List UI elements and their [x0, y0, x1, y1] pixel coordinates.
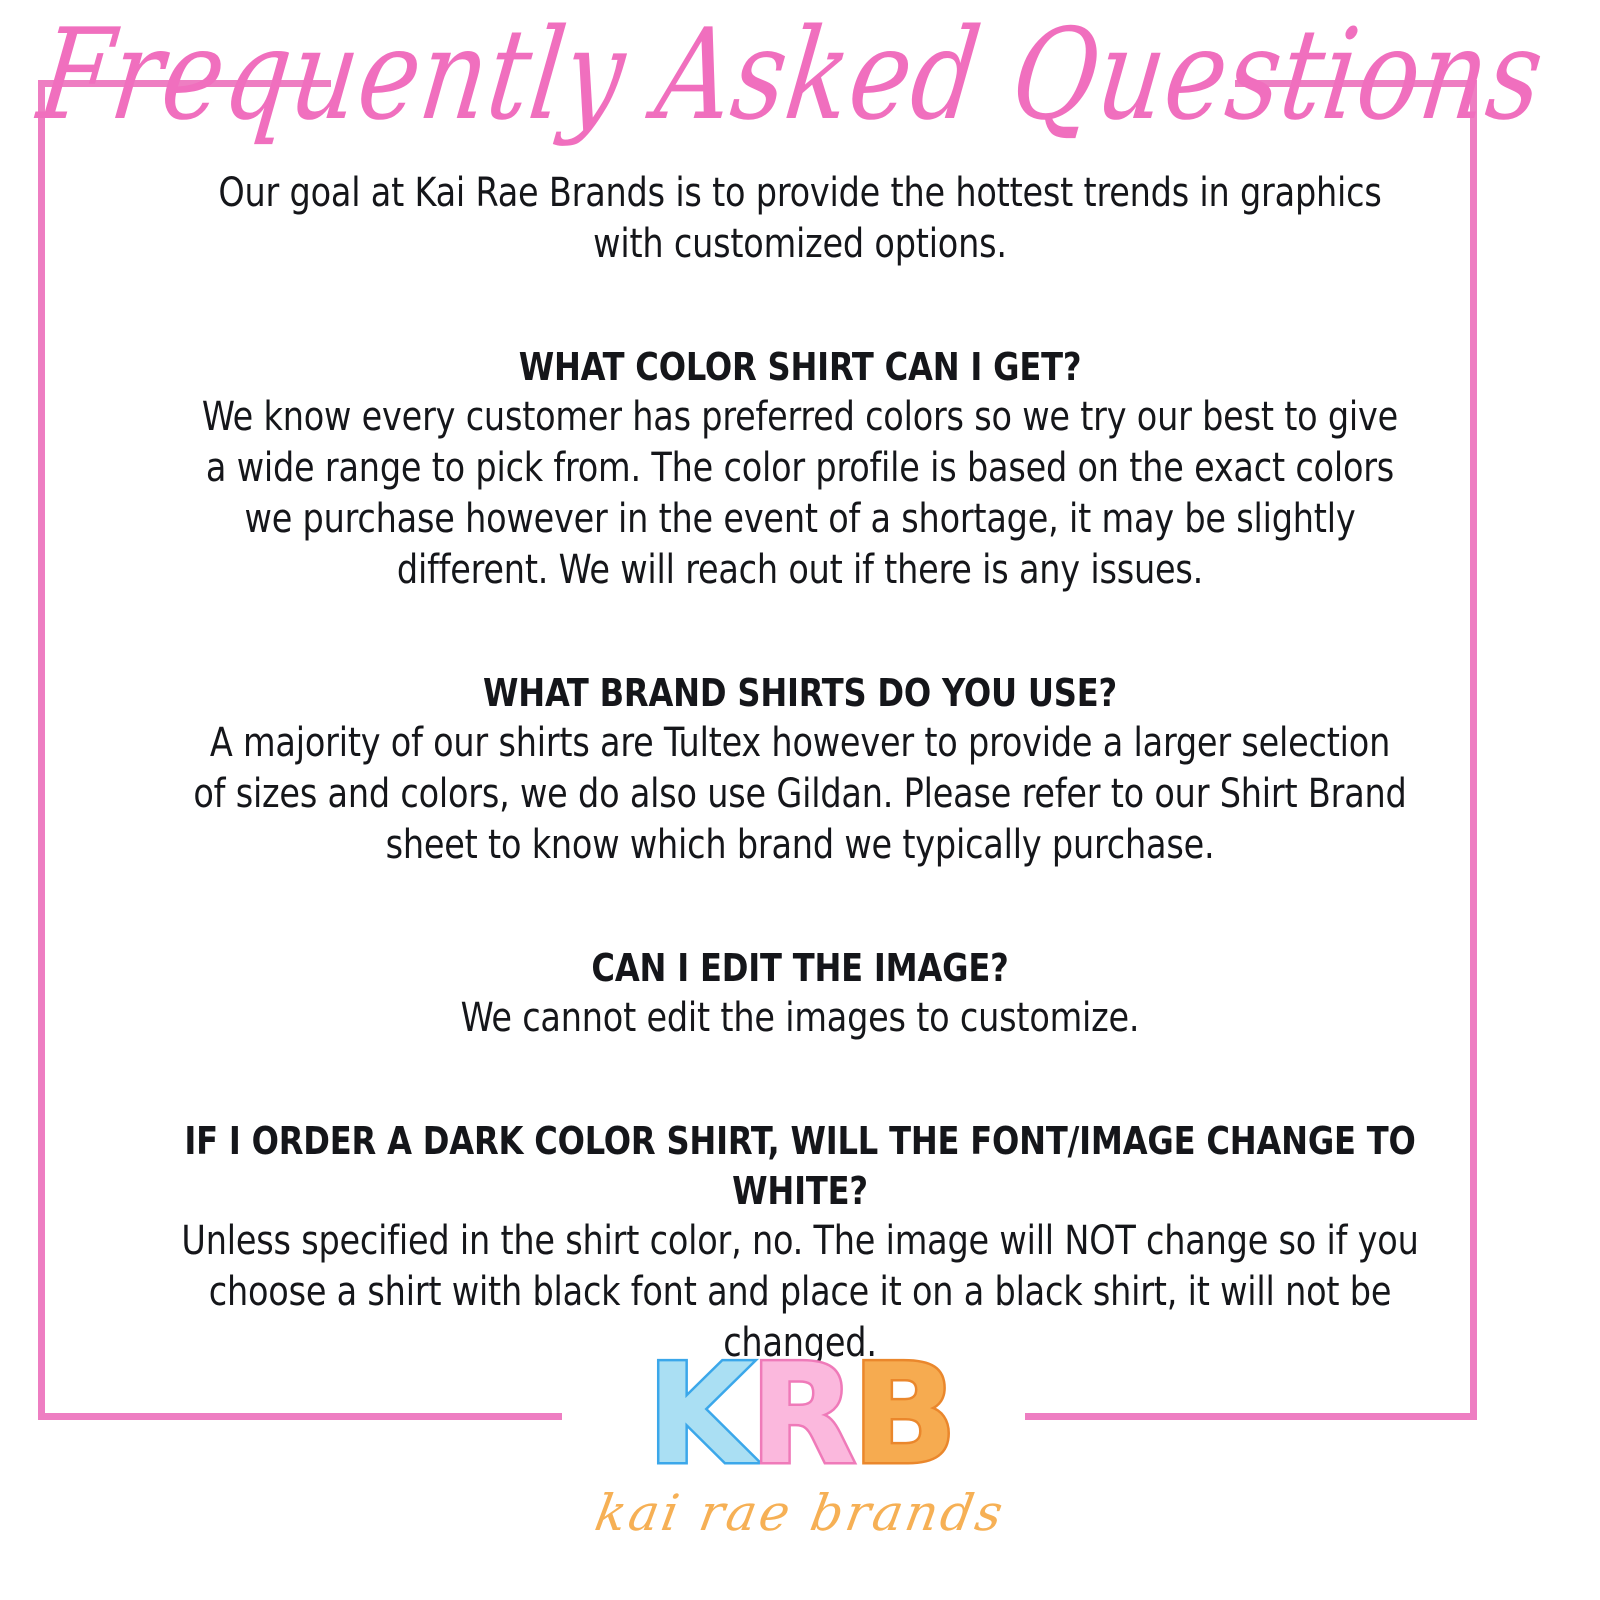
brand-logo: KRB kai rae brands: [0, 1340, 1600, 1542]
faq-answer-2-line-2: of sizes and colors, we do also use Gild…: [166, 769, 1435, 820]
faq-answer-4-line-2: choose a shirt with black font and place…: [166, 1267, 1435, 1318]
faq-answer-4-line-1: Unless specified in the shirt color, no.…: [166, 1216, 1435, 1267]
faq-answer-1-line-4: different. We will reach out if there is…: [166, 545, 1435, 596]
logo-letter-k: K: [647, 1340, 750, 1490]
faq-graphic: Frequently Asked Questions Our goal at K…: [0, 0, 1600, 1600]
logo-letters: KRB: [0, 1340, 1600, 1490]
intro-line-1: Our goal at Kai Rae Brands is to provide…: [166, 168, 1435, 219]
frame-left-edge: [38, 80, 45, 1420]
faq-question-4-line-1: IF I ORDER A DARK COLOR SHIRT, WILL THE …: [159, 1116, 1441, 1166]
faq-answer-2-line-1: A majority of our shirts are Tultex howe…: [166, 718, 1435, 769]
faq-answer-1-line-2: a wide range to pick from. The color pro…: [166, 443, 1435, 494]
spacer: [118, 596, 1482, 668]
faq-answer-1-line-3: we purchase however in the event of a sh…: [166, 494, 1435, 545]
faq-question-3: CAN I EDIT THE IMAGE?: [159, 943, 1441, 993]
faq-content: Our goal at Kai Rae Brands is to provide…: [118, 168, 1482, 1369]
logo-letter-b: B: [852, 1340, 953, 1490]
faq-answer-1-line-1: We know every customer has preferred col…: [166, 392, 1435, 443]
intro-line-2: with customized options.: [166, 219, 1435, 270]
spacer: [118, 871, 1482, 943]
faq-question-2: WHAT BRAND SHIRTS DO YOU USE?: [159, 668, 1441, 718]
faq-question-1: WHAT COLOR SHIRT CAN I GET?: [159, 342, 1441, 392]
faq-answer-2-line-3: sheet to know which brand we typically p…: [166, 820, 1435, 871]
logo-letter-r: R: [750, 1340, 852, 1490]
faq-answer-3-line-1: We cannot edit the images to customize.: [166, 993, 1435, 1044]
spacer: [118, 1044, 1482, 1116]
faq-question-4-line-2: WHITE?: [159, 1166, 1441, 1216]
logo-tagline: kai rae brands: [590, 1484, 1009, 1542]
spacer: [118, 270, 1482, 342]
page-title: Frequently Asked Questions: [0, 6, 1600, 147]
